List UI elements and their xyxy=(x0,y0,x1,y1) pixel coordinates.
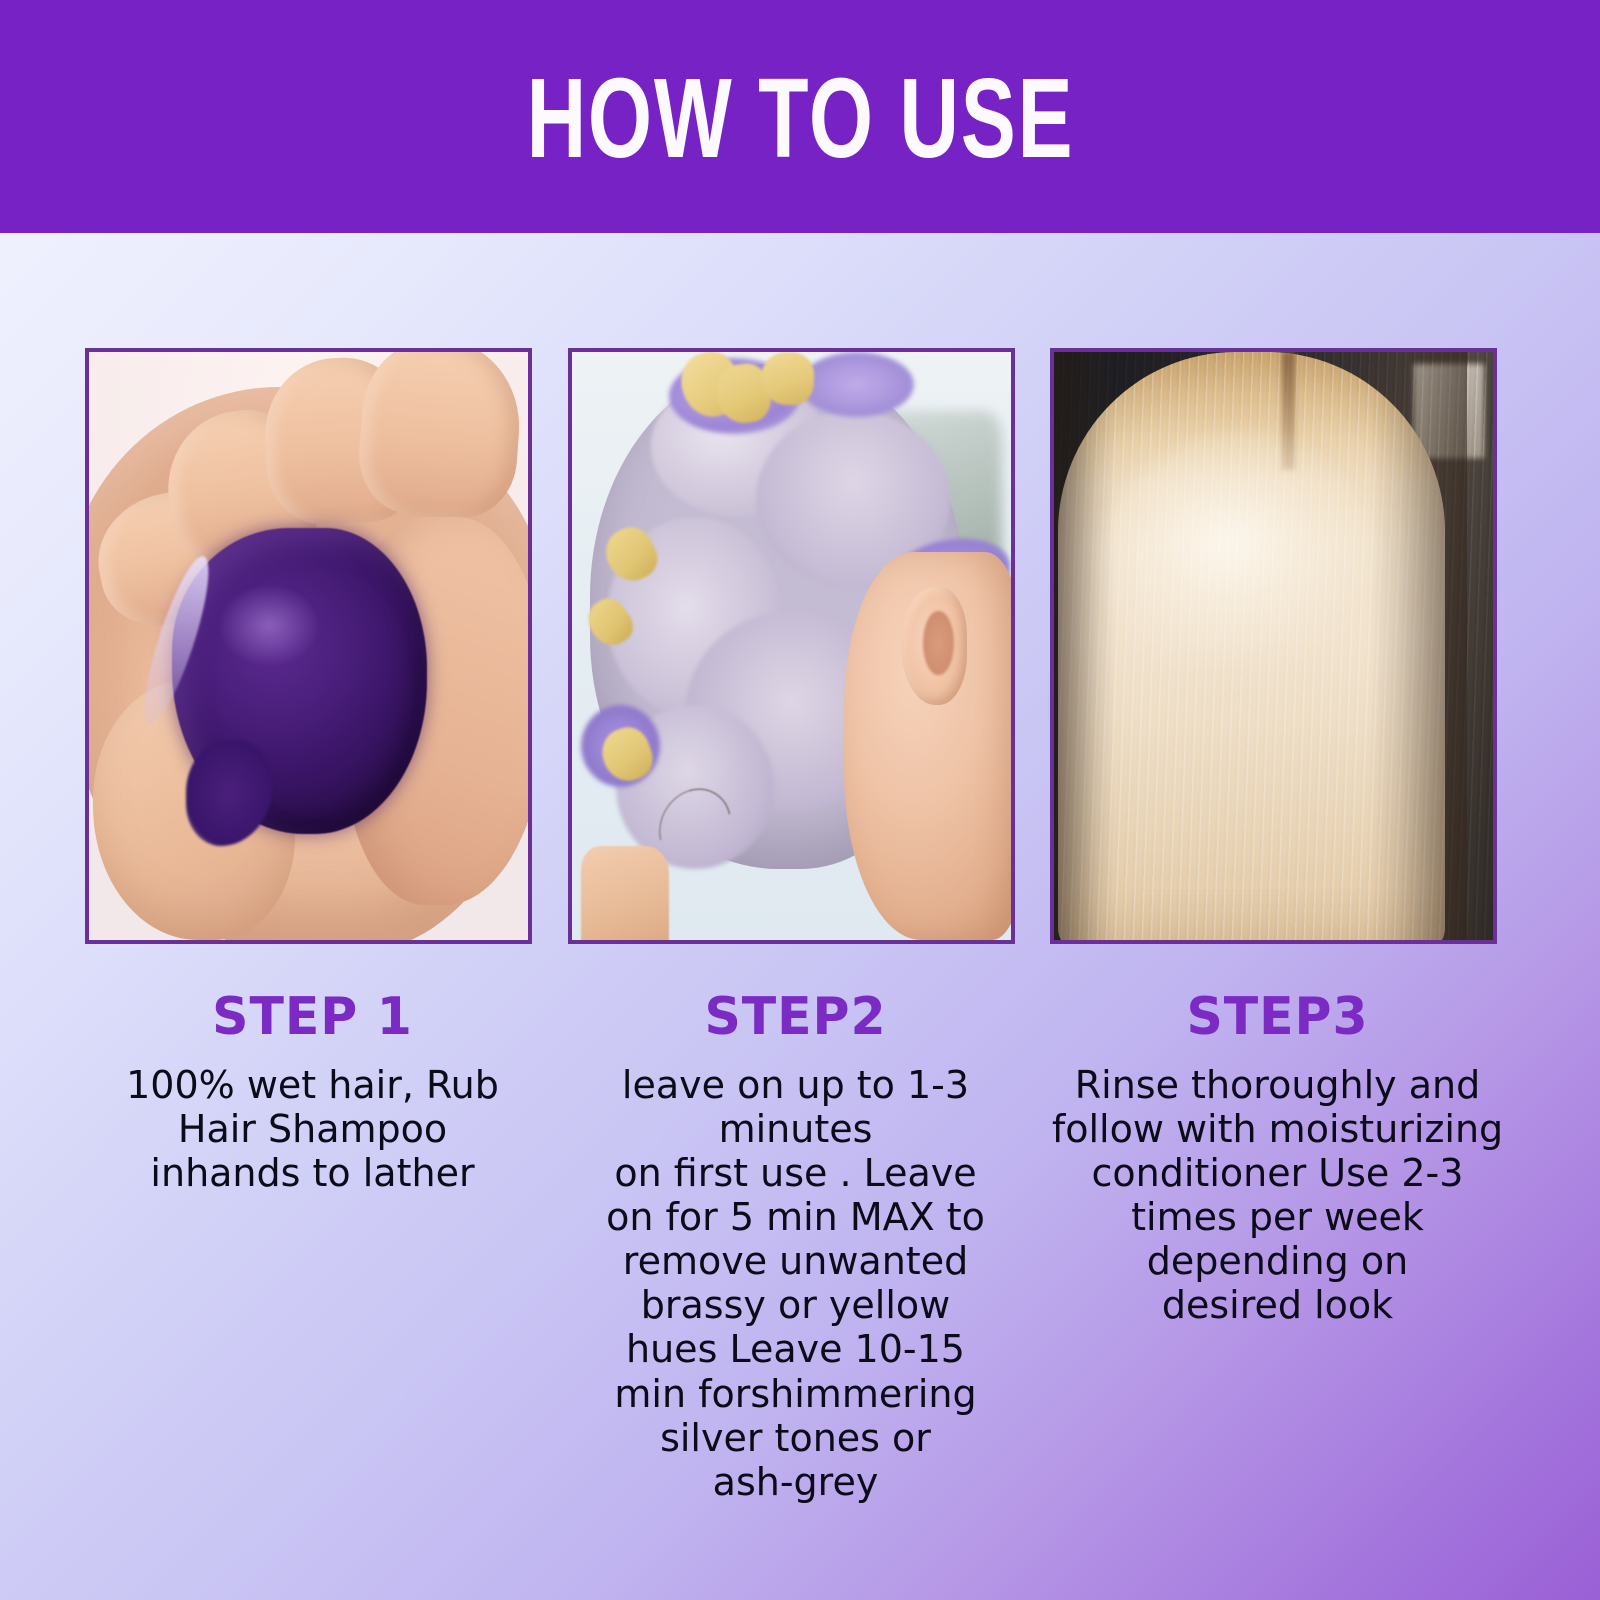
ear-inner-shape xyxy=(923,611,954,676)
lathering-shampoo-image xyxy=(572,352,1011,940)
purple-smear xyxy=(800,352,914,417)
step-3-label: STEP3 xyxy=(1057,991,1498,1043)
hair-part xyxy=(1282,352,1295,470)
hair-shadow-right xyxy=(1370,352,1467,940)
step-2-image-frame xyxy=(568,348,1015,944)
blonde-hair-result-image xyxy=(1054,352,1493,940)
step-3-body: Rinse thoroughly and follow with moistur… xyxy=(1038,1063,1517,1327)
steps-row: STEP 1 100% wet hair, Rub Hair Shampoo i… xyxy=(0,233,1600,1600)
step-1-body: 100% wet hair, Rub Hair Shampoo inhands … xyxy=(73,1063,552,1195)
gel-highlight xyxy=(221,587,318,663)
step-1-label: STEP 1 xyxy=(92,991,533,1043)
step-2-label: STEP2 xyxy=(575,991,1016,1043)
hand-holding-purple-shampoo-image xyxy=(89,352,528,940)
step-3-image-frame xyxy=(1050,348,1497,944)
header-band: HOW TO USE xyxy=(0,0,1600,233)
step-2-body: leave on up to 1-3 minutes on first use … xyxy=(556,1063,1035,1504)
page-title: HOW TO USE xyxy=(526,62,1074,175)
finger-shape xyxy=(355,352,525,522)
how-to-use-infographic: HOW TO USE STEP 1 xyxy=(0,0,1600,1600)
step-1-image-frame xyxy=(85,348,532,944)
wrist-shape xyxy=(581,846,669,940)
hair-shadow-left xyxy=(1054,352,1115,940)
hair-sheen xyxy=(1098,434,1379,704)
